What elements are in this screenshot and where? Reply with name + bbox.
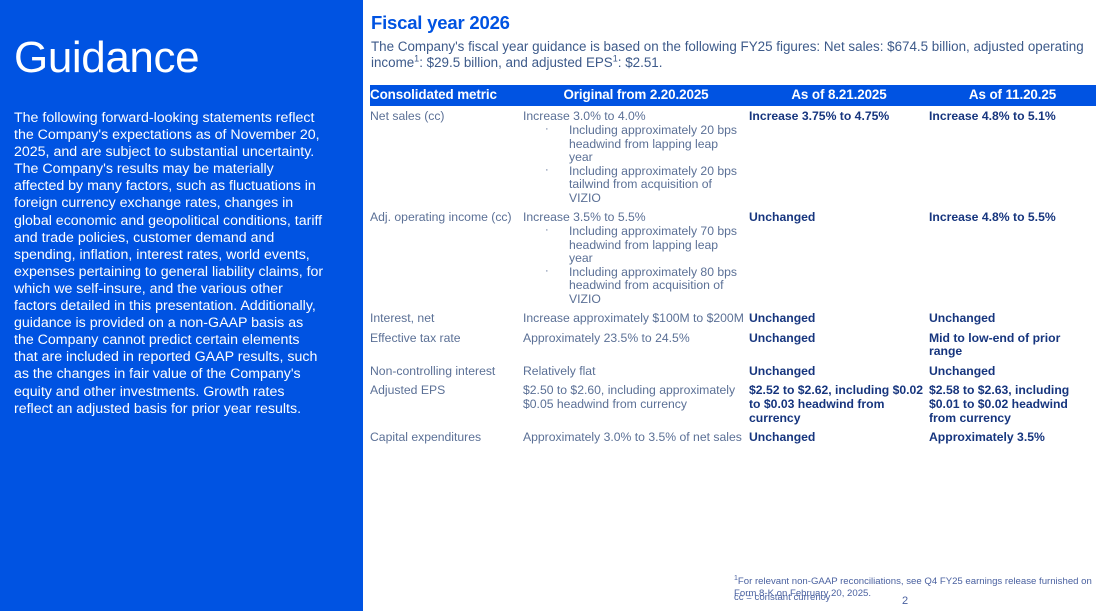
bullet-dot-icon: · — [545, 164, 549, 177]
right-content-panel: Fiscal year 2026 The Company's fiscal ye… — [363, 0, 1102, 611]
cell-as-of-nov: Unchanged — [929, 361, 1096, 381]
cell-original-text: $2.50 to $2.60, including approximately … — [523, 384, 745, 411]
table-row: Adj. operating income (cc)Increase 3.5% … — [370, 207, 1096, 308]
cell-metric: Adjusted EPS — [370, 380, 523, 427]
table-header: Consolidated metric Original from 2.20.2… — [370, 85, 1096, 106]
column-header-aug: As of 8.21.2025 — [749, 85, 929, 106]
bullet-item: ·Including approximately 80 bps headwind… — [523, 266, 745, 306]
page-title: Guidance — [14, 36, 344, 80]
cell-as-of-nov: Mid to low-end of prior range — [929, 328, 1096, 361]
cell-original-text: Approximately 3.0% to 3.5% of net sales — [523, 431, 745, 445]
table-row: Interest, netIncrease approximately $100… — [370, 308, 1096, 328]
bullet-item: ·Including approximately 20 bps tailwind… — [523, 165, 745, 205]
cell-as-of-nov: Increase 4.8% to 5.1% — [929, 106, 1096, 207]
cell-original: Increase 3.0% to 4.0%·Including approxim… — [523, 106, 749, 207]
bullet-text: Including approximately 20 bps tailwind … — [569, 164, 737, 205]
table-header-row: Consolidated metric Original from 2.20.2… — [370, 85, 1096, 106]
column-header-original: Original from 2.20.2025 — [523, 85, 749, 106]
table-row: Capital expendituresApproximately 3.0% t… — [370, 427, 1096, 447]
cell-as-of-aug: Increase 3.75% to 4.75% — [749, 106, 929, 207]
column-header-nov: As of 11.20.25 — [929, 85, 1096, 106]
cell-original: $2.50 to $2.60, including approximately … — [523, 380, 749, 427]
guidance-table: Consolidated metric Original from 2.20.2… — [370, 85, 1096, 447]
cell-original-text: Increase approximately $100M to $200M — [523, 312, 745, 326]
table-body: Net sales (cc)Increase 3.0% to 4.0%·Incl… — [370, 106, 1096, 447]
cell-original-bullet-list: ·Including approximately 20 bps headwind… — [523, 124, 745, 205]
column-header-metric: Consolidated metric — [370, 85, 523, 106]
subtitle-text-2: : $29.5 billion, and adjusted EPS — [419, 55, 613, 70]
cell-as-of-aug: Unchanged — [749, 328, 929, 361]
bullet-item: ·Including approximately 70 bps headwind… — [523, 225, 745, 265]
cell-as-of-aug: Unchanged — [749, 427, 929, 447]
cell-as-of-aug: $2.52 to $2.62, including $0.02 to $0.03… — [749, 380, 929, 427]
footnote-2: cc = constant currency — [734, 592, 830, 604]
bullet-text: Including approximately 70 bps headwind … — [569, 224, 737, 265]
table-row: Adjusted EPS$2.50 to $2.60, including ap… — [370, 380, 1096, 427]
page-number: 2 — [897, 595, 913, 607]
section-heading: Fiscal year 2026 — [371, 12, 510, 34]
cell-metric: Adj. operating income (cc) — [370, 207, 523, 308]
cell-original-bullet-list: ·Including approximately 70 bps headwind… — [523, 225, 745, 306]
cell-original-text: Increase 3.5% to 5.5% — [523, 211, 745, 225]
bullet-text: Including approximately 20 bps headwind … — [569, 123, 737, 164]
cell-as-of-nov: Unchanged — [929, 308, 1096, 328]
bullet-item: ·Including approximately 20 bps headwind… — [523, 124, 745, 164]
forward-looking-statement-paragraph: The following forward-looking statements… — [14, 110, 326, 418]
cell-metric: Capital expenditures — [370, 427, 523, 447]
table-row: Non-controlling interestRelatively flatU… — [370, 361, 1096, 381]
cell-original-text: Increase 3.0% to 4.0% — [523, 110, 745, 124]
cell-original: Approximately 23.5% to 24.5% — [523, 328, 749, 361]
slide-canvas: Guidance The following forward-looking s… — [0, 0, 1102, 611]
cell-as-of-aug: Unchanged — [749, 207, 929, 308]
left-blue-panel: Guidance The following forward-looking s… — [0, 0, 363, 611]
cell-original: Increase approximately $100M to $200M — [523, 308, 749, 328]
bullet-dot-icon: · — [545, 224, 549, 237]
cell-metric: Non-controlling interest — [370, 361, 523, 381]
subtitle-text-3: : $2.51. — [618, 55, 663, 70]
cell-original: Approximately 3.0% to 3.5% of net sales — [523, 427, 749, 447]
cell-metric: Interest, net — [370, 308, 523, 328]
cell-original: Relatively flat — [523, 361, 749, 381]
cell-metric: Effective tax rate — [370, 328, 523, 361]
cell-original-text: Relatively flat — [523, 365, 745, 379]
section-subtitle: The Company's fiscal year guidance is ba… — [371, 39, 1093, 71]
cell-as-of-nov: $2.58 to $2.63, including $0.01 to $0.02… — [929, 380, 1096, 427]
cell-as-of-aug: Unchanged — [749, 308, 929, 328]
cell-as-of-nov: Increase 4.8% to 5.5% — [929, 207, 1096, 308]
table-row: Effective tax rateApproximately 23.5% to… — [370, 328, 1096, 361]
bullet-dot-icon: · — [545, 123, 549, 136]
cell-metric: Net sales (cc) — [370, 106, 523, 207]
cell-original: Increase 3.5% to 5.5%·Including approxim… — [523, 207, 749, 308]
bullet-text: Including approximately 80 bps headwind … — [569, 265, 737, 306]
bullet-dot-icon: · — [545, 265, 549, 278]
cell-original-text: Approximately 23.5% to 24.5% — [523, 332, 745, 346]
cell-as-of-nov: Approximately 3.5% — [929, 427, 1096, 447]
cell-as-of-aug: Unchanged — [749, 361, 929, 381]
table-row: Net sales (cc)Increase 3.0% to 4.0%·Incl… — [370, 106, 1096, 207]
